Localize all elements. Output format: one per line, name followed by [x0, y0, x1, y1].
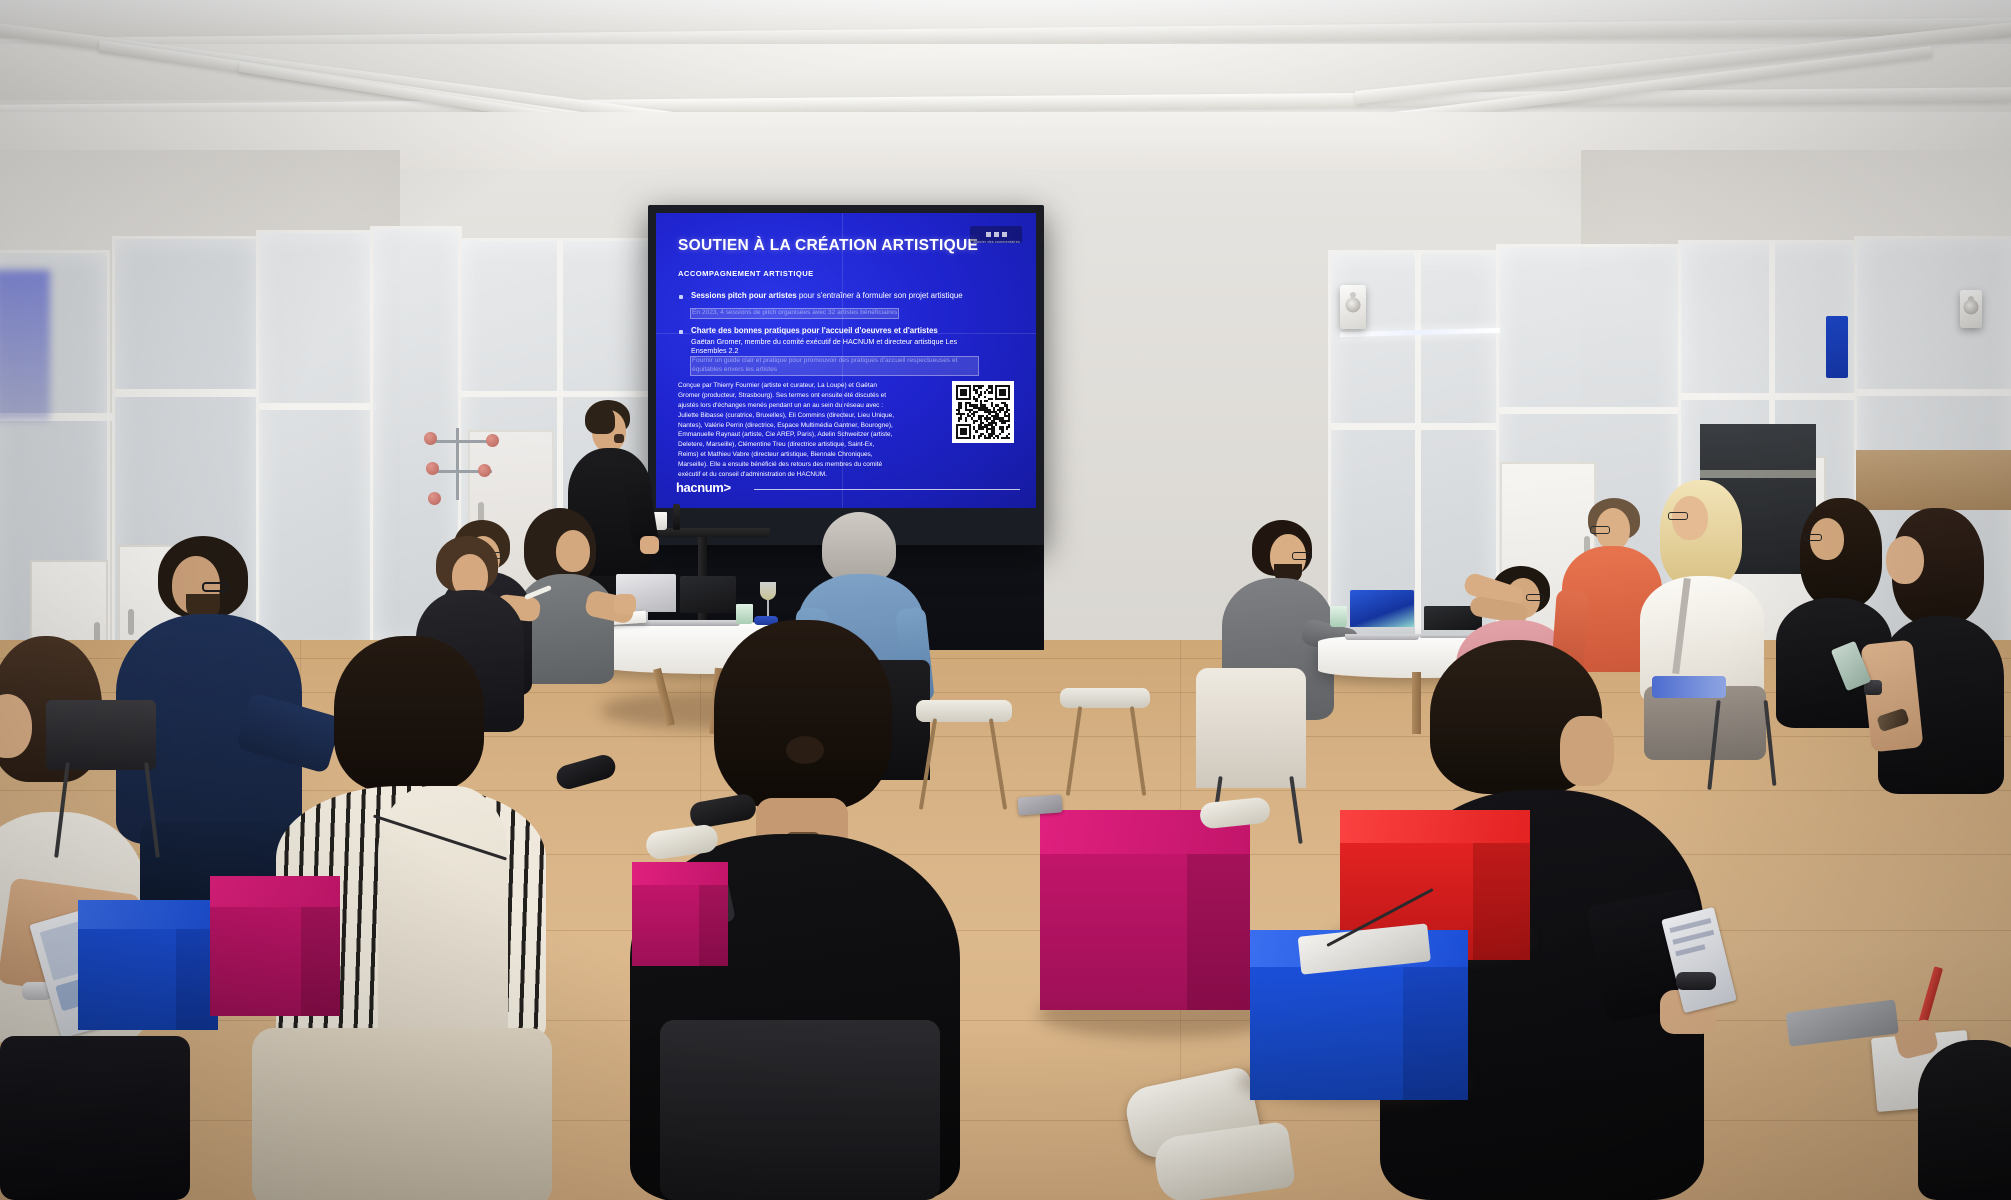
lap: [0, 1036, 190, 1200]
blue-wall-sign: [1826, 316, 1848, 378]
chair-beige: [1196, 668, 1306, 788]
attendee-note-taker: [1896, 992, 2011, 1200]
chair-foreground-center: [660, 1020, 940, 1200]
hair-bun: [786, 736, 824, 764]
wristband: [1676, 972, 1716, 990]
toolbar-dot-icon: [994, 232, 999, 237]
chair-beige-foreground: [252, 1028, 552, 1200]
attendee-phone-tattoo: [1862, 508, 2011, 808]
chair-dark: [46, 700, 156, 770]
qr-code[interactable]: [952, 381, 1014, 443]
bullet-item: Charte des bonnes pratiques pour l'accue…: [678, 326, 978, 376]
laptop[interactable]: [680, 576, 736, 626]
coffee-cup[interactable]: [1330, 606, 1347, 627]
footer-rule: [754, 489, 1020, 490]
hacnum-logo: hacnum>: [676, 480, 731, 495]
slide-title: SOUTIEN À LA CRÉATION ARTISTIQUE: [678, 237, 978, 255]
screen-reflection-left: [0, 270, 50, 420]
eyeglasses: [202, 582, 228, 592]
eyeglasses: [1292, 552, 1312, 560]
eyeglasses: [1526, 594, 1544, 601]
slide-bullets: Sessions pitch pour artistes pour s'entr…: [678, 291, 978, 383]
slide-footer: hacnum>: [676, 480, 1020, 496]
cabinet-shelf: [1700, 470, 1816, 478]
phone-on-floor[interactable]: [1017, 794, 1062, 815]
toolbar-dot-icon: [986, 232, 991, 237]
presenter-hands: [640, 536, 659, 554]
bullet-bold-text: Charte des bonnes pratiques pour l'accue…: [691, 326, 938, 335]
photo-scene: SOUTIEN À LA CRÉATION ARTISTIQUE ACCOMPA…: [0, 0, 2011, 1200]
magenta-cube[interactable]: [1040, 810, 1250, 1010]
laptop-blue-screen[interactable]: [1350, 590, 1414, 640]
slide-section-heading: ACCOMPAGNEMENT ARTISTIQUE: [678, 269, 814, 278]
slide-toolbar-label: Ajouter des commentaires: [973, 240, 1020, 244]
eyeglasses: [1668, 512, 1688, 520]
slide: SOUTIEN À LA CRÉATION ARTISTIQUE ACCOMPA…: [656, 213, 1036, 508]
pink-cube-center[interactable]: [632, 862, 728, 966]
toolbar-dot-icon: [1002, 232, 1007, 237]
bullet-bold-text: Sessions pitch pour artistes: [691, 291, 797, 300]
stool-seat: [1060, 688, 1150, 708]
bullet-rest-text: pour s'entraîner à formuler son projet a…: [797, 291, 963, 300]
presenter-beard: [614, 434, 624, 443]
right-speaker: [1340, 285, 1366, 329]
bullet-faint-text: Fournir un guide clair et pratique pour …: [691, 357, 978, 375]
bullet-sub-text: Gaëtan Gromer, membre du comité exécutif…: [691, 337, 978, 356]
presentation-screen: SOUTIEN À LA CRÉATION ARTISTIQUE ACCOMPA…: [648, 205, 1044, 545]
pink-cube-left[interactable]: [210, 876, 340, 1016]
eyeglasses: [1804, 534, 1822, 541]
face: [1560, 716, 1614, 786]
blue-cube-left[interactable]: [78, 900, 218, 1030]
eyeglasses: [1590, 526, 1610, 534]
slide-paragraph: Conçue par Thierry Fournier (artiste et …: [678, 381, 896, 480]
water-bottle: [673, 504, 680, 530]
bullet-faint-text: En 2023, 4 sessions de pitch organisées …: [691, 309, 898, 318]
far-right-speaker: [1960, 290, 1982, 328]
stool-seat: [916, 700, 1012, 722]
bullet-item: Sessions pitch pour artistes pour s'entr…: [678, 291, 978, 319]
